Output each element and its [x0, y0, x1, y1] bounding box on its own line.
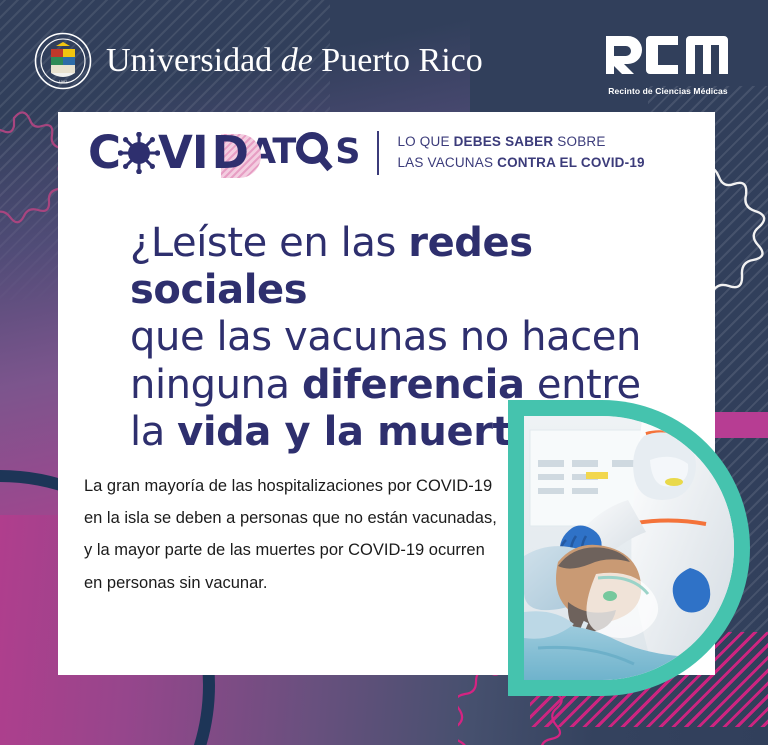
university-name-de: de [281, 42, 313, 79]
magnifying-glass-icon [295, 131, 335, 175]
body-paragraph: La gran mayoría de las hospitalizaciones… [84, 470, 504, 599]
covidatos-logo-row: C [88, 130, 645, 175]
svg-text:1903: 1903 [59, 80, 69, 85]
headline-l4-bold: vida y la muerte? [177, 409, 561, 455]
headline-l1-plain: ¿Leíste en las [130, 220, 408, 266]
logo-letter-c: C [88, 130, 120, 175]
tagline-l2-bold: CONTRA EL COVID-19 [497, 155, 645, 170]
logo-letters-vi: VI [158, 130, 208, 175]
upr-seal-icon: 1903 [34, 32, 92, 90]
tagline-line-2: LAS VACUNAS CONTRA EL COVID-19 [397, 153, 644, 173]
university-name: Universidad de Puerto Rico [106, 44, 483, 78]
university-logo-lockup: 1903 Universidad de Puerto Rico [34, 32, 483, 90]
headline-l3-bold: diferencia [302, 362, 525, 408]
tagline-l1-bold: DEBES SABER [454, 134, 554, 149]
tagline-l1-plain1: LO QUE [397, 134, 453, 149]
rcm-logo-lockup: Recinto de Ciencias Médicas [604, 34, 732, 99]
rcm-wordmark-icon [604, 34, 732, 81]
university-name-part2: Puerto Rico [313, 42, 483, 79]
headline-l4-plain: la [130, 409, 177, 455]
rcm-subtitle: Recinto de Ciencias Médicas [608, 86, 727, 96]
logo-letter-d-group: D [212, 130, 248, 175]
logo-letter-s: S [335, 135, 359, 170]
tagline-line-1: LO QUE DEBES SABER SOBRE [397, 132, 644, 152]
logo-divider [377, 131, 379, 175]
covidatos-wordmark: C [88, 130, 359, 175]
headline-l3-plain1: ninguna [130, 362, 302, 408]
tagline-l1-plain2: SOBRE [553, 134, 605, 149]
headline-line-2: que las vacunas no hacen [130, 314, 675, 361]
photo-frame-d-shape [508, 400, 750, 696]
headline-line-1: ¿Leíste en las redes sociales [130, 220, 675, 314]
patient-photo-art [524, 416, 734, 680]
coronavirus-icon [118, 132, 160, 174]
patient-photo [524, 416, 734, 680]
university-name-part1: Universidad [106, 42, 281, 79]
tagline: LO QUE DEBES SABER SOBRE LAS VACUNAS CON… [397, 132, 644, 173]
tagline-l2-plain: LAS VACUNAS [397, 155, 497, 170]
logo-letter-d: D [212, 126, 248, 179]
